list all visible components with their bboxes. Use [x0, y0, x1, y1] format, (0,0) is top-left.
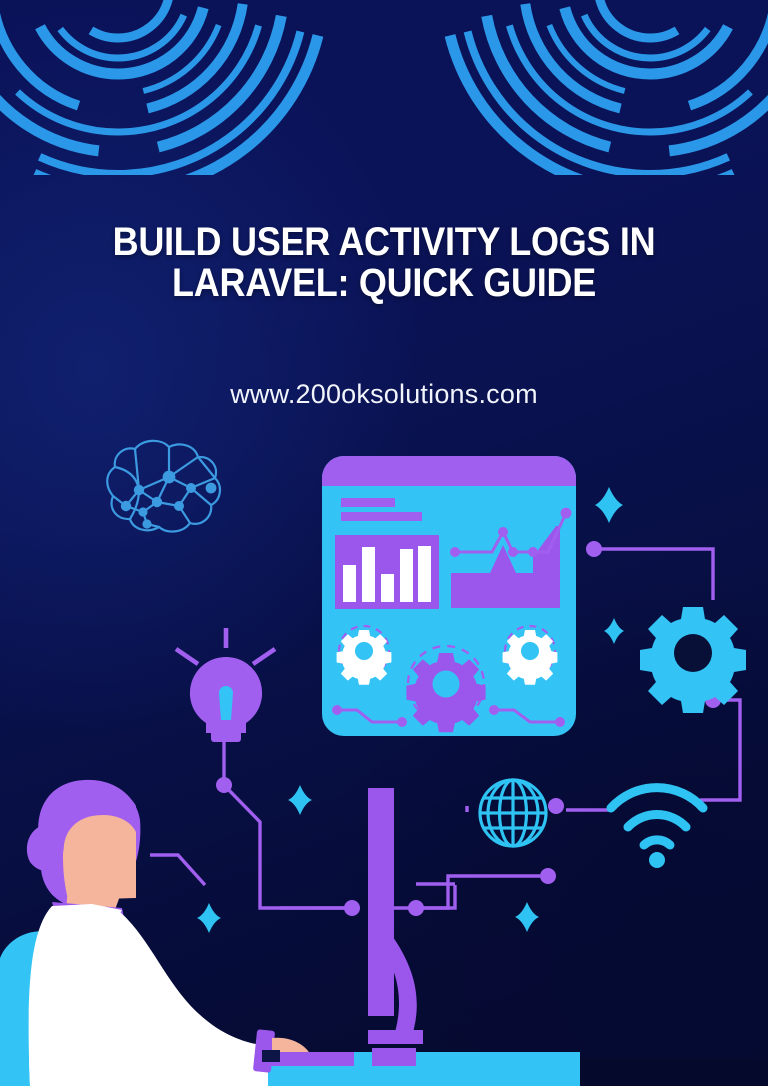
sparkle-icon [604, 618, 624, 644]
main-illustration [0, 0, 768, 1086]
keyboard-dark [262, 1050, 280, 1062]
text-line [341, 512, 422, 521]
lightbulb-icon [176, 628, 275, 742]
sparkle-icon [515, 902, 539, 932]
keyboard [268, 1052, 354, 1066]
bar [418, 546, 431, 602]
gear-small-right [503, 630, 558, 685]
monitor-post [368, 788, 394, 1016]
poster-canvas: BUILD USER ACTIVITY LOGS INLARAVEL: QUIC… [0, 0, 768, 1086]
illustration-layer [0, 0, 768, 1086]
sparkle-icon [288, 785, 312, 815]
text-line [341, 498, 395, 507]
bulb-filament [219, 686, 233, 720]
sparkle-icon [197, 903, 221, 933]
bulb-base [211, 726, 241, 742]
brain-network-icon [107, 441, 220, 532]
analytics-dashboard-illustration [322, 456, 576, 736]
bar [362, 547, 375, 602]
wifi-icon [611, 788, 703, 868]
bar [343, 565, 356, 602]
person-at-desk-illustration [0, 780, 416, 1086]
gear-small-left [337, 630, 392, 685]
arm [29, 912, 268, 1086]
gear-icon [640, 607, 746, 713]
circuit-node-dot [540, 868, 556, 884]
gear-large-center [406, 653, 485, 732]
bar-chart [335, 535, 439, 609]
bar [400, 549, 413, 602]
monitor-base [368, 1030, 423, 1044]
monitor-illustration [368, 788, 423, 1044]
globe-icon [480, 780, 546, 846]
keyboard-key [372, 1048, 416, 1066]
sparkle-icon [595, 487, 623, 523]
bar [381, 574, 394, 602]
